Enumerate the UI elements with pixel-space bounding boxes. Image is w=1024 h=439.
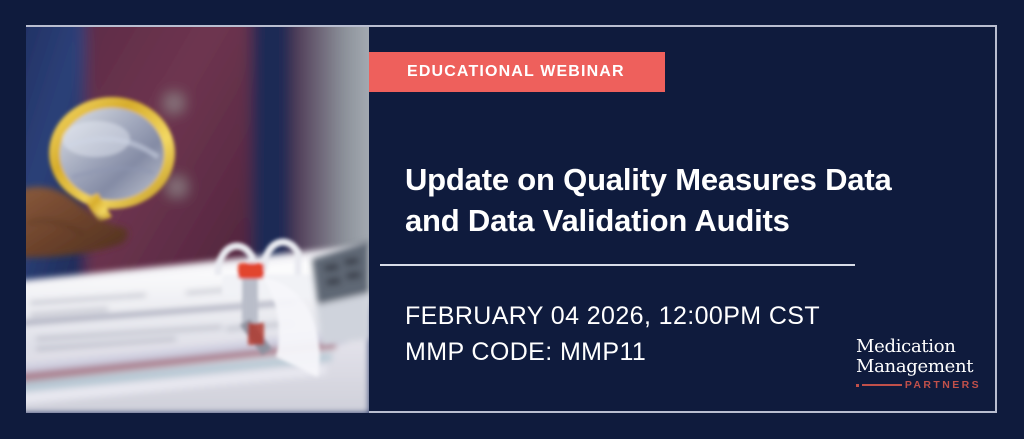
- logo-line-management: Management: [856, 357, 981, 377]
- mmp-logo: Medication Management PARTNERS: [856, 337, 981, 391]
- webinar-code: MMP CODE: MMP11: [405, 335, 820, 371]
- educational-webinar-badge: EDUCATIONAL WEBINAR: [369, 52, 665, 92]
- webinar-title-line1: Update on Quality Measures Data: [405, 159, 965, 200]
- hero-photo-illustration: [26, 27, 369, 413]
- webinar-datetime: FEBRUARY 04 2026, 12:00PM CST: [405, 299, 820, 335]
- title-divider: [380, 264, 855, 266]
- webinar-banner: EDUCATIONAL WEBINAR Update on Quality Me…: [0, 0, 1024, 439]
- logo-line-medication: Medication: [856, 337, 981, 357]
- hero-photo: [26, 27, 369, 413]
- banner-content: EDUCATIONAL WEBINAR Update on Quality Me…: [369, 27, 997, 413]
- logo-partners-row: PARTNERS: [856, 379, 981, 391]
- webinar-meta: FEBRUARY 04 2026, 12:00PM CST MMP CODE: …: [405, 299, 820, 370]
- webinar-title-line2: and Data Validation Audits: [405, 200, 965, 241]
- webinar-title: Update on Quality Measures Data and Data…: [405, 159, 965, 241]
- logo-tagline-partners: PARTNERS: [905, 379, 981, 391]
- logo-rule: [862, 384, 902, 386]
- logo-dot-marker: [856, 384, 859, 387]
